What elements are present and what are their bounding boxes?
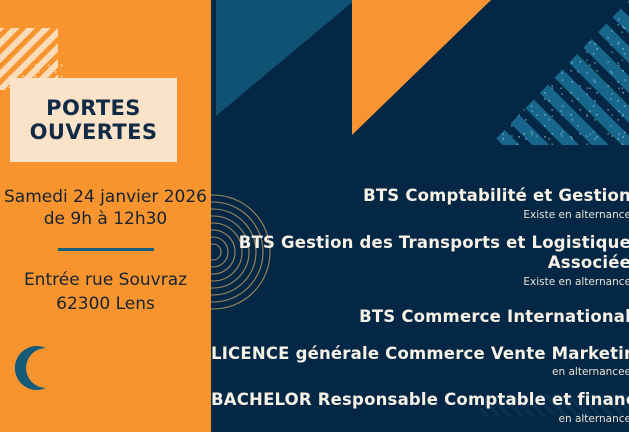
diagonal-stripes-decoration — [490, 0, 629, 145]
orange-triangle-decoration — [352, 0, 491, 135]
date-line-1: Samedi 24 janvier 2026 — [0, 186, 211, 208]
stripe-speckle-texture — [490, 0, 629, 145]
crescent-moon-icon — [10, 342, 62, 394]
info-panel: PORTES OUVERTES Samedi 24 janvier 2026 d… — [0, 0, 211, 432]
course-title: LICENCE générale Commerce Vente Marketin… — [211, 344, 629, 365]
date-line-2: de 9h à 12h30 — [0, 208, 211, 230]
event-date: Samedi 24 janvier 2026 de 9h à 12h30 — [0, 186, 211, 251]
course-title: BTS Comptabilité et Gestion — [211, 186, 629, 207]
address-line-2: 62300 Lens — [0, 292, 211, 316]
divider — [58, 248, 154, 251]
course-title: BTS Commerce International — [211, 307, 629, 328]
course-note: en alternance — [211, 412, 629, 428]
headline-line-1: PORTES — [30, 96, 158, 120]
course-note: Existe en alternance — [211, 208, 629, 224]
open-house-poster: BTS Comptabilité et Gestion Existe en al… — [0, 0, 629, 432]
page-title: PORTES OUVERTES — [30, 96, 158, 145]
course-item: BTS Comptabilité et Gestion Existe en al… — [211, 186, 629, 224]
headline-line-2: OUVERTES — [30, 120, 158, 144]
teal-triangle-decoration — [216, 0, 355, 116]
event-address: Entrée rue Souvraz 62300 Lens — [0, 268, 211, 316]
course-item: BTS Commerce International — [211, 307, 629, 328]
course-note: Existe en alternance — [211, 275, 629, 291]
course-title: BTS Gestion des Transports et Logistique — [211, 233, 629, 254]
course-list: BTS Comptabilité et Gestion Existe en al… — [211, 186, 629, 428]
course-note: en alternancee — [211, 365, 629, 381]
course-title: BACHELOR Responsable Comptable et financ… — [211, 390, 629, 411]
course-title-continued: Associée — [211, 253, 629, 274]
address-line-1: Entrée rue Souvraz — [0, 268, 211, 292]
course-item: BACHELOR Responsable Comptable et financ… — [211, 390, 629, 428]
course-item: BTS Gestion des Transports et Logistique… — [211, 233, 629, 291]
course-item: LICENCE générale Commerce Vente Marketin… — [211, 344, 629, 382]
headline-box: PORTES OUVERTES — [10, 78, 177, 162]
